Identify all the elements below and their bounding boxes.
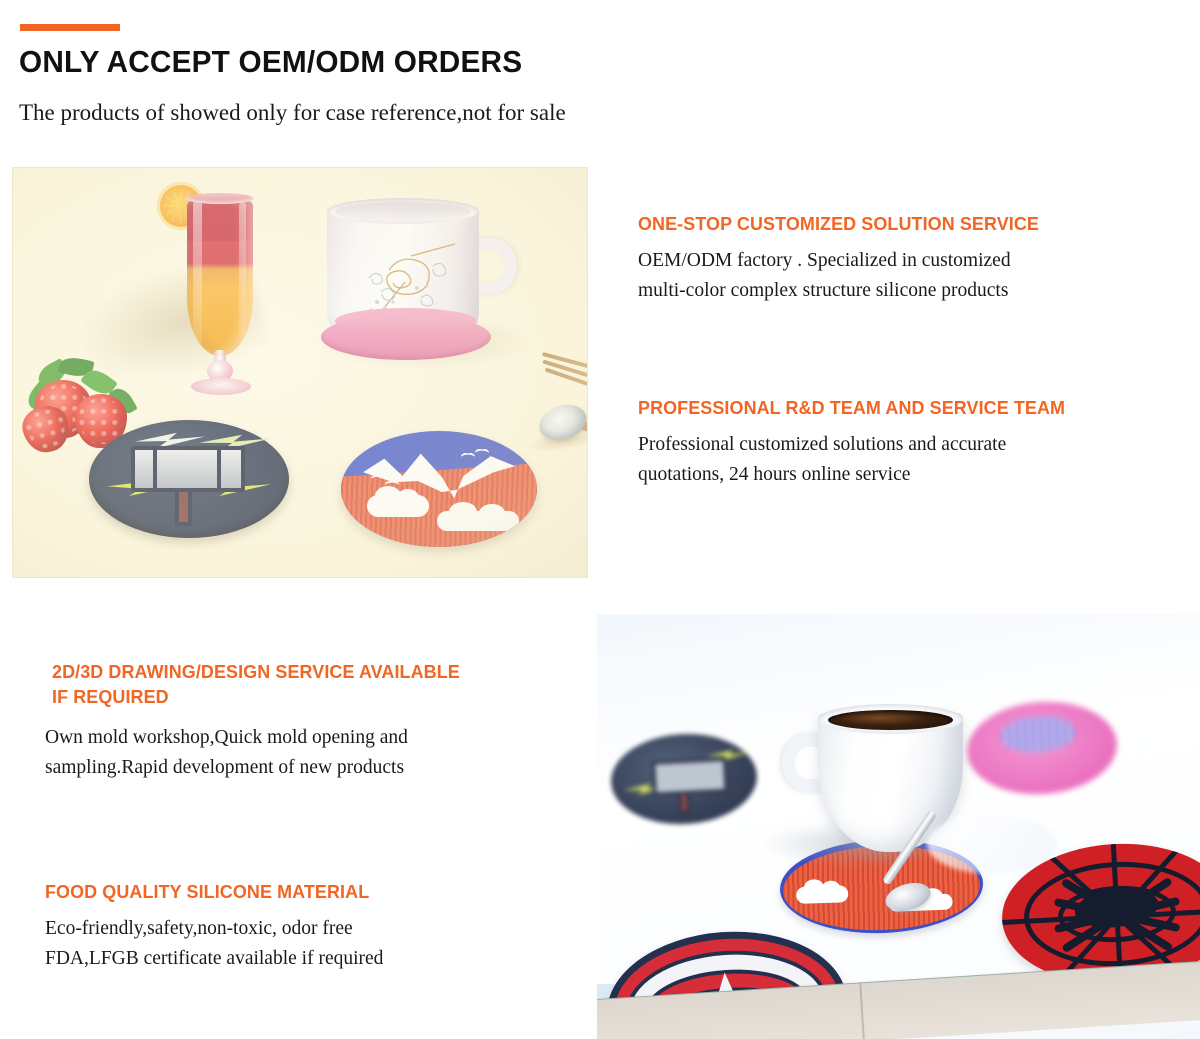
feature-body-line: Professional customized solutions and ac… bbox=[638, 430, 1168, 460]
feature-food-quality-silicone-material: FOOD QUALITY SILICONE MATERIAL Eco-frien… bbox=[45, 880, 575, 973]
accent-bar bbox=[20, 24, 120, 31]
top-photo-scene bbox=[13, 168, 587, 577]
feature-body-line: FDA,LFGB certificate available if requir… bbox=[45, 944, 575, 974]
feature-body: Professional customized solutions and ac… bbox=[638, 430, 1168, 489]
photo-vignette bbox=[13, 168, 587, 577]
feature-body-line: Own mold workshop,Quick mold opening and bbox=[45, 723, 582, 753]
bottom-photo-scene bbox=[597, 614, 1200, 1039]
feature-title: FOOD QUALITY SILICONE MATERIAL bbox=[45, 880, 559, 905]
feature-body-line: Eco-friendly,safety,non-toxic, odor free bbox=[45, 914, 575, 944]
cloud-icon bbox=[796, 885, 849, 904]
product-detail-page: ONLY ACCEPT OEM/ODM ORDERS The products … bbox=[0, 0, 1200, 1039]
hammer-head bbox=[652, 758, 728, 796]
feature-body: OEM/ODM factory . Specialized in customi… bbox=[638, 246, 1138, 305]
feature-2d-3d-drawing-design-service: 2D/3D DRAWING/DESIGN SERVICE AVAILABLE I… bbox=[52, 660, 582, 782]
feature-title-line: IF REQUIRED bbox=[52, 685, 566, 710]
feature-title: PROFESSIONAL R&D TEAM AND SERVICE TEAM bbox=[638, 396, 1152, 421]
feature-body-line: sampling.Rapid development of new produc… bbox=[45, 753, 582, 783]
feature-body: Own mold workshop,Quick mold opening and… bbox=[45, 723, 582, 782]
feature-body-line: multi-color complex structure silicone p… bbox=[638, 276, 1138, 306]
feature-one-stop-customized-solution-service: ONE-STOP CUSTOMIZED SOLUTION SERVICE OEM… bbox=[638, 212, 1138, 305]
feature-title-line: 2D/3D DRAWING/DESIGN SERVICE AVAILABLE bbox=[52, 660, 566, 685]
page-subtitle: The products of showed only for case ref… bbox=[19, 100, 566, 126]
black-coffee bbox=[828, 710, 953, 730]
feature-body-line: OEM/ODM factory . Specialized in customi… bbox=[638, 246, 1138, 276]
page-title: ONLY ACCEPT OEM/ODM ORDERS bbox=[19, 44, 522, 80]
feature-professional-rd-team-and-service-team: PROFESSIONAL R&D TEAM AND SERVICE TEAM P… bbox=[638, 396, 1168, 489]
feature-body: Eco-friendly,safety,non-toxic, odor free… bbox=[45, 914, 575, 973]
product-group-photo bbox=[12, 167, 588, 578]
feature-title: 2D/3D DRAWING/DESIGN SERVICE AVAILABLE I… bbox=[52, 660, 566, 710]
lifestyle-photo bbox=[597, 614, 1200, 1039]
feature-title: ONE-STOP CUSTOMIZED SOLUTION SERVICE bbox=[638, 212, 1123, 237]
feature-body-line: quotations, 24 hours online service bbox=[638, 460, 1168, 490]
